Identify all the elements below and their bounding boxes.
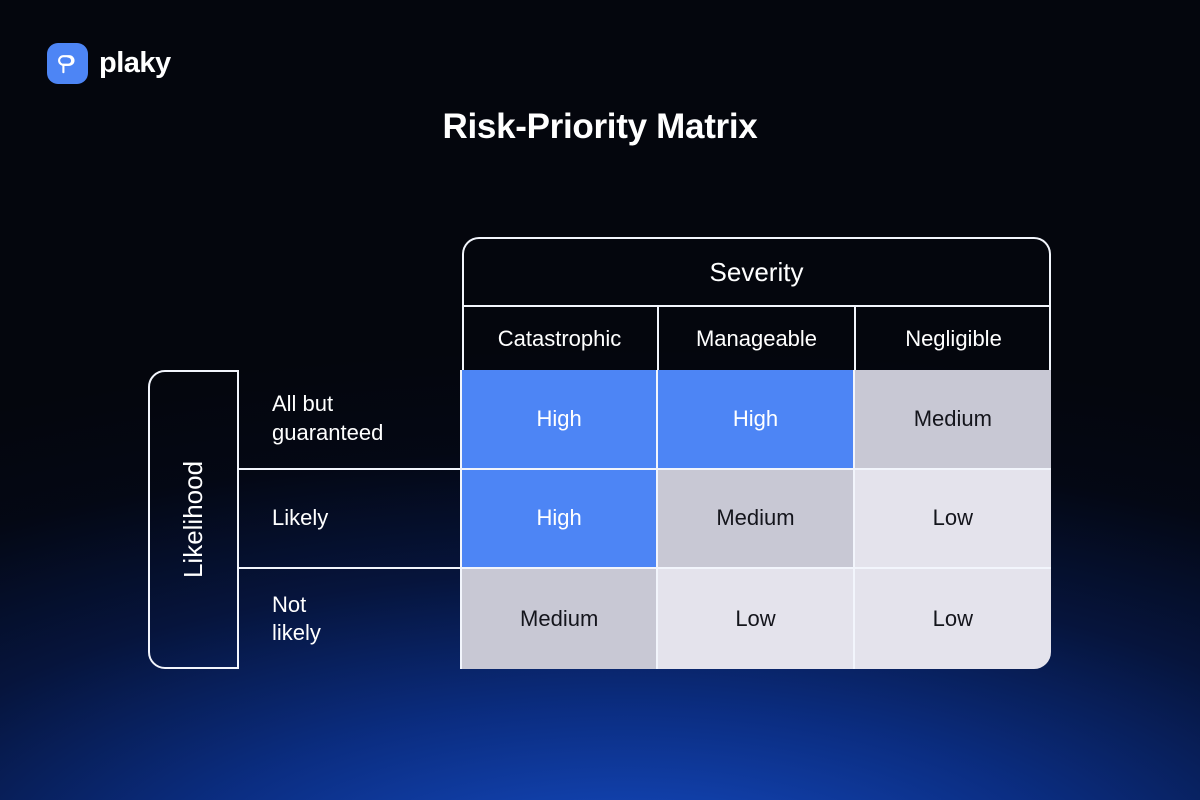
cell-r3c1[interactable]: Medium (462, 569, 658, 669)
page-title: Risk-Priority Matrix (0, 107, 1200, 147)
cell-r1c1[interactable]: High (462, 370, 658, 470)
cell-r3c3[interactable]: Low (855, 569, 1051, 669)
row-header-all-but-guaranteed: All but guaranteed (238, 370, 462, 470)
matrix-body: All but guaranteed High High Medium Like… (238, 370, 1051, 669)
row-header-not-likely: Not likely (238, 569, 462, 669)
likelihood-axis-label: Likelihood (148, 370, 239, 669)
likelihood-axis-text: Likelihood (178, 461, 209, 578)
plaky-logo-icon (47, 43, 88, 84)
cell-r1c3[interactable]: Medium (855, 370, 1051, 470)
cell-r3c2[interactable]: Low (658, 569, 854, 669)
column-header-catastrophic: Catastrophic (462, 305, 659, 371)
brand-logo: plaky (47, 43, 171, 84)
row-header-likely: Likely (238, 470, 462, 570)
cell-r2c1[interactable]: High (462, 470, 658, 570)
cell-r2c2[interactable]: Medium (658, 470, 854, 570)
brand-name: plaky (99, 47, 171, 80)
column-header-manageable: Manageable (659, 305, 856, 371)
column-header-negligible: Negligible (856, 305, 1051, 371)
severity-axis-label: Severity (462, 237, 1051, 307)
cell-r1c2[interactable]: High (658, 370, 854, 470)
risk-priority-matrix: Severity Catastrophic Manageable Negligi… (148, 237, 1051, 669)
severity-column-headers: Catastrophic Manageable Negligible (462, 305, 1051, 371)
cell-r2c3[interactable]: Low (855, 470, 1051, 570)
